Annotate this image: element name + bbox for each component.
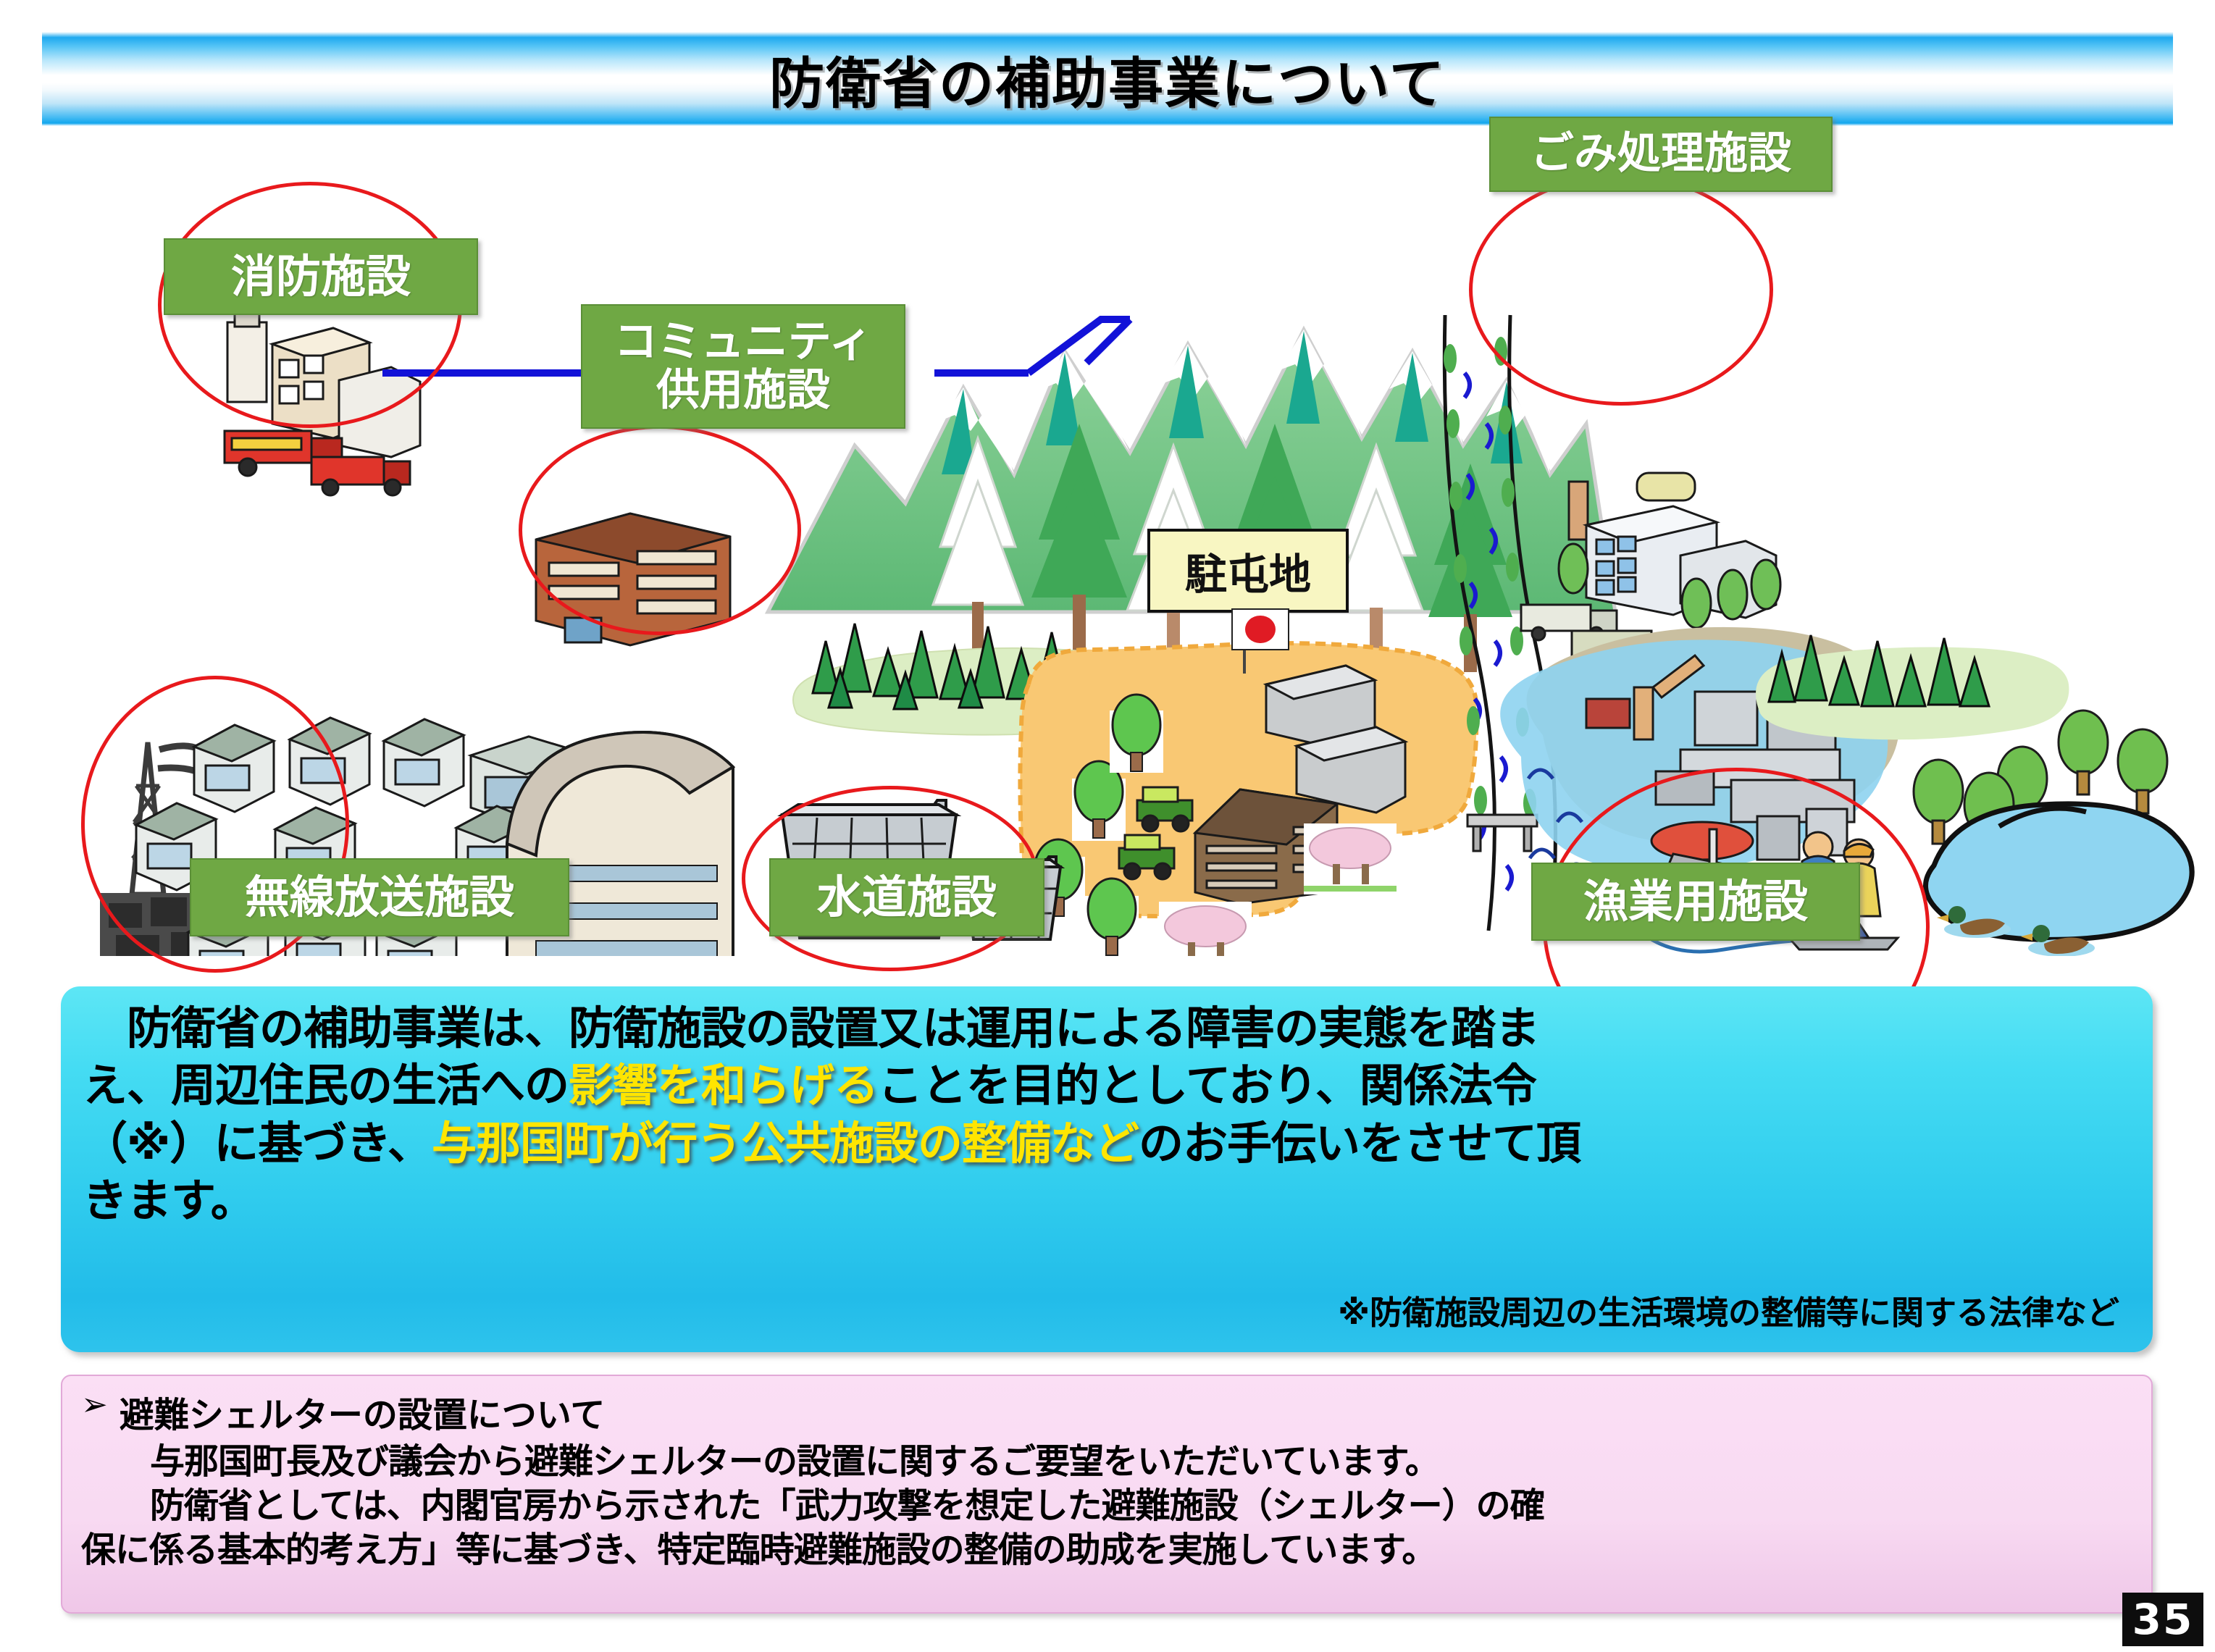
policy-line-3b: のお手伝いをさせて頂 xyxy=(1139,1117,1580,1170)
tag-water-facility-label: 水道施設 xyxy=(817,872,997,922)
slide-root: 防衛省の補助事業について xyxy=(0,0,2215,1652)
tag-fire-facility-label: 消防施設 xyxy=(231,251,411,301)
policy-highlight-2: 与那国町が行う公共施設の整備など xyxy=(432,1117,1139,1170)
tag-community-facility-label-line2: 供用施設 xyxy=(656,366,830,415)
shelter-body-text: 与那国町長及び議会から避難シェルターの設置に関するご要望をいただいています。 防… xyxy=(81,1440,2132,1572)
shelter-heading-row: ➢ 避難シェルターの設置について xyxy=(81,1386,2132,1437)
fire-station-illustration xyxy=(225,286,420,495)
tag-waste-facility-label: ごみ処理施設 xyxy=(1531,130,1791,178)
tag-fishery-facility-label: 漁業用施設 xyxy=(1583,876,1808,926)
tag-radio-broadcast-facility-label: 無線放送施設 xyxy=(245,872,514,922)
policy-line-2a: え、周辺住民の生活への xyxy=(83,1059,569,1112)
illustration-canvas: 駐屯地 消防施設 コミュニティ 供用施設 ごみ処理施設 無線放送施設 水道施設 xyxy=(0,134,2215,956)
tag-water-facility[interactable]: 水道施設 xyxy=(769,858,1044,936)
shelter-heading: 避難シェルターの設置について xyxy=(120,1386,606,1437)
policy-line-4: きます。 xyxy=(83,1174,255,1227)
tag-radio-broadcast-facility[interactable]: 無線放送施設 xyxy=(190,858,569,936)
page-title: 防衛省の補助事業について xyxy=(769,39,1446,119)
tag-community-facility[interactable]: コミュニティ 供用施設 xyxy=(581,304,905,429)
policy-line-2b: ことを目的としており、関係法令 xyxy=(878,1059,1536,1112)
policy-line-1: 防衛省の補助事業は、防衛施設の設置又は運用による障害の実態を踏ま xyxy=(83,1002,1539,1054)
bullet-arrow-icon: ➢ xyxy=(81,1386,108,1421)
shelter-paragraph-2: 防衛省としては、内閣官房から示された「武力攻撃を想定した避難施設（シェルター）の… xyxy=(81,1484,2132,1528)
garrison-sign: 駐屯地 xyxy=(1147,529,1349,613)
shelter-paragraph-1: 与那国町長及び議会から避難シェルターの設置に関するご要望をいただいています。 xyxy=(81,1440,2132,1484)
community-facility-building xyxy=(536,513,730,645)
tag-community-facility-label-line1: コミュニティ xyxy=(614,318,872,366)
tag-fishery-facility[interactable]: 漁業用施設 xyxy=(1531,863,1860,941)
policy-footnote: ※防衛施設周辺の生活環境の整備等に関する法律など xyxy=(1338,1286,2119,1333)
shelter-paragraph-3: 保に係る基本的考え方」等に基づき、特定臨時避難施設の整備の助成を実施しています。 xyxy=(81,1530,1436,1570)
policy-line-3a: （※）に基づき、 xyxy=(83,1117,432,1170)
policy-description-box: 防衛省の補助事業は、防衛施設の設置又は運用による障害の実態を踏ま え、周辺住民の… xyxy=(61,986,2153,1352)
policy-highlight-1: 影響を和らげる xyxy=(569,1059,878,1112)
tag-fire-facility[interactable]: 消防施設 xyxy=(164,238,478,315)
policy-description-text: 防衛省の補助事業は、防衛施設の設置又は運用による障害の実態を踏ま え、周辺住民の… xyxy=(83,999,2131,1229)
tag-waste-facility[interactable]: ごみ処理施設 xyxy=(1489,117,1833,192)
page-number-badge: 35 xyxy=(2122,1593,2203,1646)
japanese-flag-icon xyxy=(1231,608,1289,650)
title-banner: 防衛省の補助事業について xyxy=(42,32,2173,126)
shelter-info-box: ➢ 避難シェルターの設置について 与那国町長及び議会から避難シェルターの設置に関… xyxy=(61,1375,2153,1614)
